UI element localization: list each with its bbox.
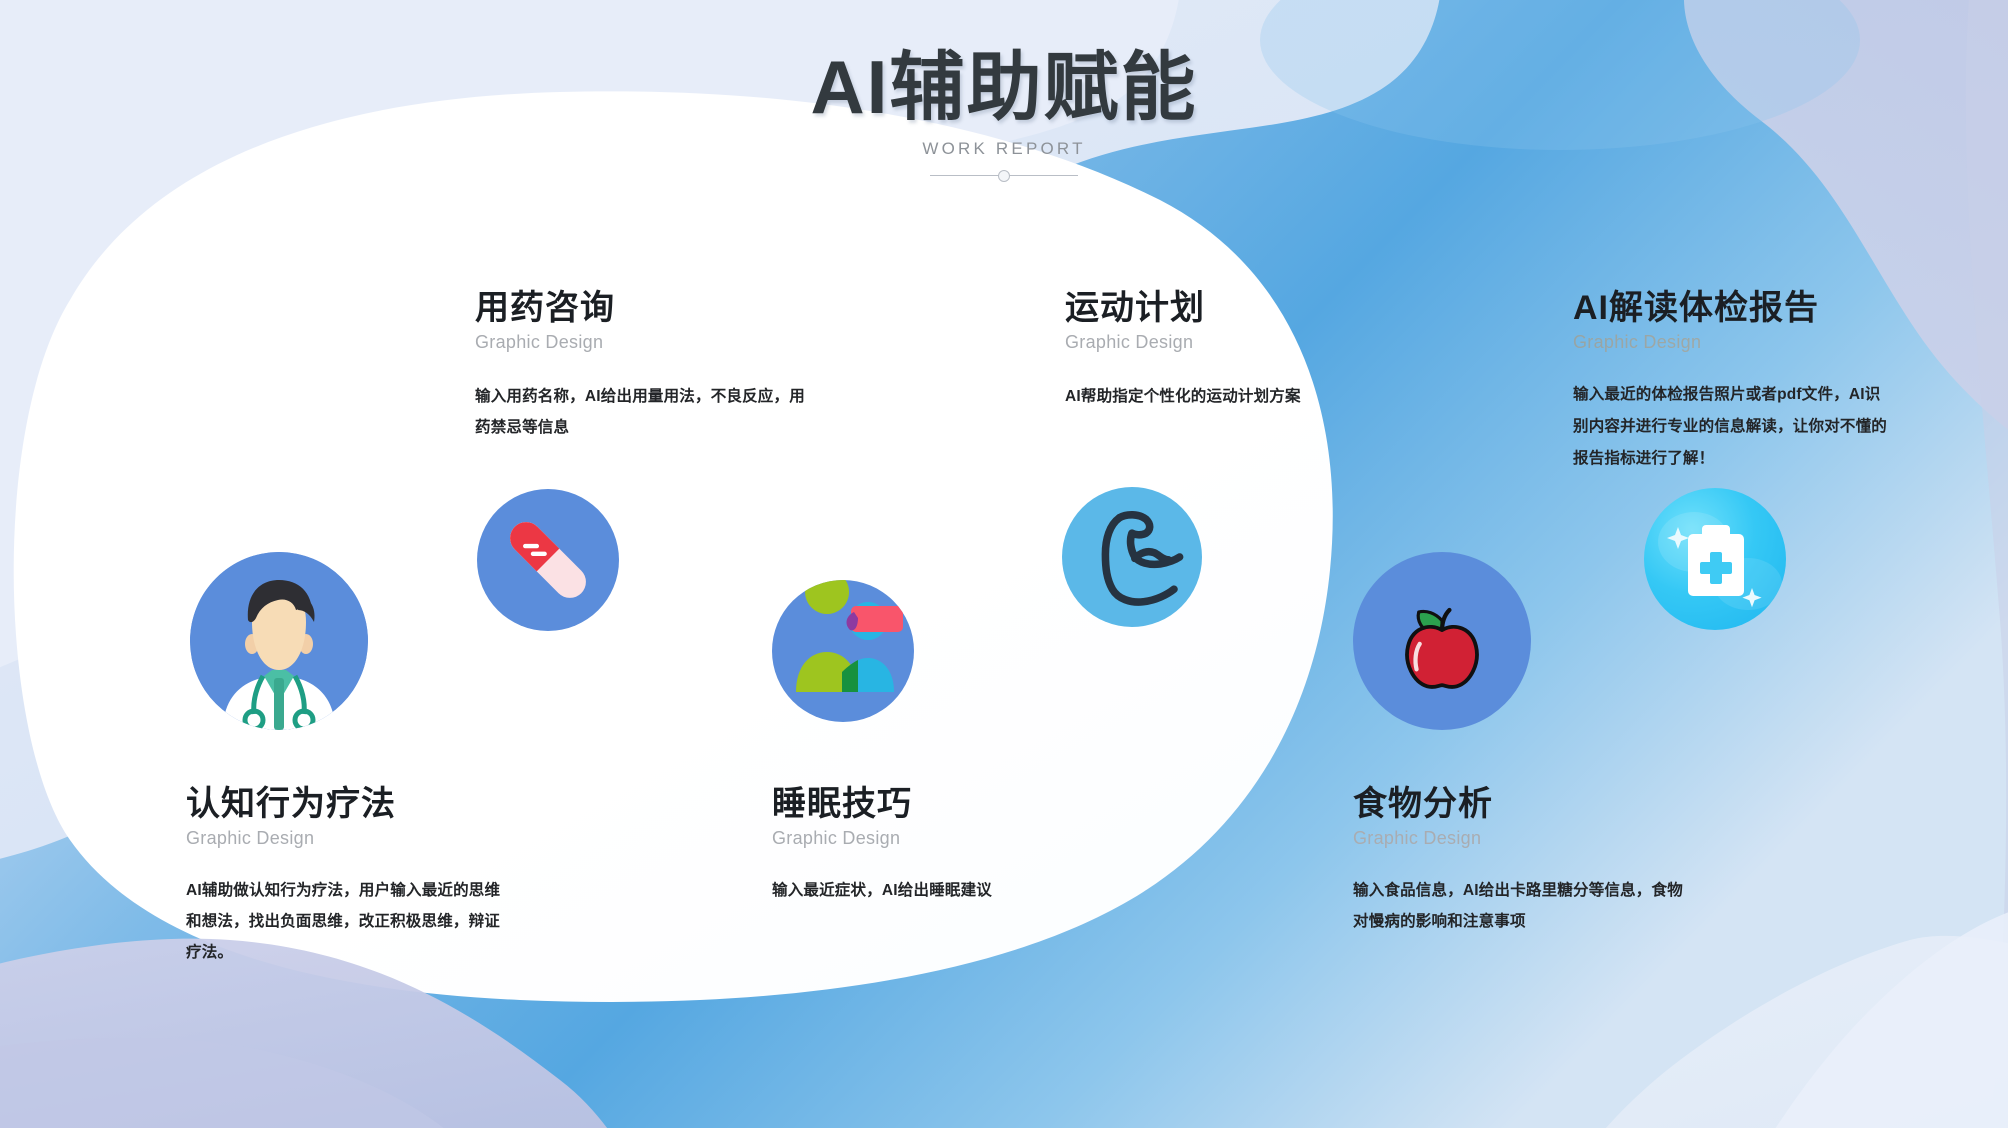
- card-description: 输入最近症状，AI给出睡眠建议: [772, 875, 1112, 906]
- card-subtitle: Graphic Design: [475, 332, 835, 353]
- card-subtitle: Graphic Design: [1353, 828, 1693, 849]
- doctor-avatar-icon[interactable]: [190, 552, 368, 730]
- flexed-bicep-icon[interactable]: [1062, 487, 1202, 627]
- page-subtitle: WORK REPORT: [0, 139, 2008, 159]
- card-title: 认知行为疗法: [186, 784, 526, 824]
- card-subtitle: Graphic Design: [1573, 332, 1893, 353]
- card-title: 食物分析: [1353, 784, 1693, 824]
- card-description: 输入用药名称，AI给出用量用法，不良反应，用药禁忌等信息: [475, 381, 815, 443]
- card-description: 输入最近的体检报告照片或者pdf文件，AI识别内容并进行专业的信息解读，让你对不…: [1573, 379, 1893, 474]
- card-cbt-therapy[interactable]: 认知行为疗法 Graphic Design AI辅助做认知行为疗法，用户输入最近…: [186, 784, 526, 968]
- header-divider: [930, 170, 1078, 182]
- two-people-speech-icon[interactable]: [772, 580, 914, 722]
- divider-knob-icon: [998, 170, 1010, 182]
- card-description: AI辅助做认知行为疗法，用户输入最近的思维和想法，找出负面思维，改正积极思维，辩…: [186, 875, 511, 968]
- card-ai-health-report[interactable]: AI解读体检报告 Graphic Design 输入最近的体检报告照片或者pdf…: [1573, 288, 1893, 474]
- card-description: AI帮助指定个性化的运动计划方案: [1065, 381, 1395, 412]
- card-title: 运动计划: [1065, 288, 1395, 328]
- card-subtitle: Graphic Design: [186, 828, 526, 849]
- slide-header: AI辅助赋能 WORK REPORT: [0, 48, 2008, 182]
- card-title: 睡眠技巧: [772, 784, 1112, 824]
- card-title: 用药咨询: [475, 288, 835, 328]
- card-subtitle: Graphic Design: [1065, 332, 1395, 353]
- medical-clipboard-icon[interactable]: [1644, 488, 1786, 630]
- red-apple-icon[interactable]: [1353, 552, 1531, 730]
- pill-capsule-icon[interactable]: [477, 489, 619, 631]
- card-sleep-tips[interactable]: 睡眠技巧 Graphic Design 输入最近症状，AI给出睡眠建议: [772, 784, 1112, 906]
- card-food-analysis[interactable]: 食物分析 Graphic Design 输入食品信息，AI给出卡路里糖分等信息，…: [1353, 784, 1693, 937]
- card-title: AI解读体检报告: [1573, 288, 1893, 328]
- card-subtitle: Graphic Design: [772, 828, 1112, 849]
- card-exercise-plan[interactable]: 运动计划 Graphic Design AI帮助指定个性化的运动计划方案: [1065, 288, 1395, 412]
- page-title: AI辅助赋能: [0, 48, 2008, 127]
- card-medication-consult[interactable]: 用药咨询 Graphic Design 输入用药名称，AI给出用量用法，不良反应…: [475, 288, 835, 443]
- card-description: 输入食品信息，AI给出卡路里糖分等信息，食物对慢病的影响和注意事项: [1353, 875, 1698, 937]
